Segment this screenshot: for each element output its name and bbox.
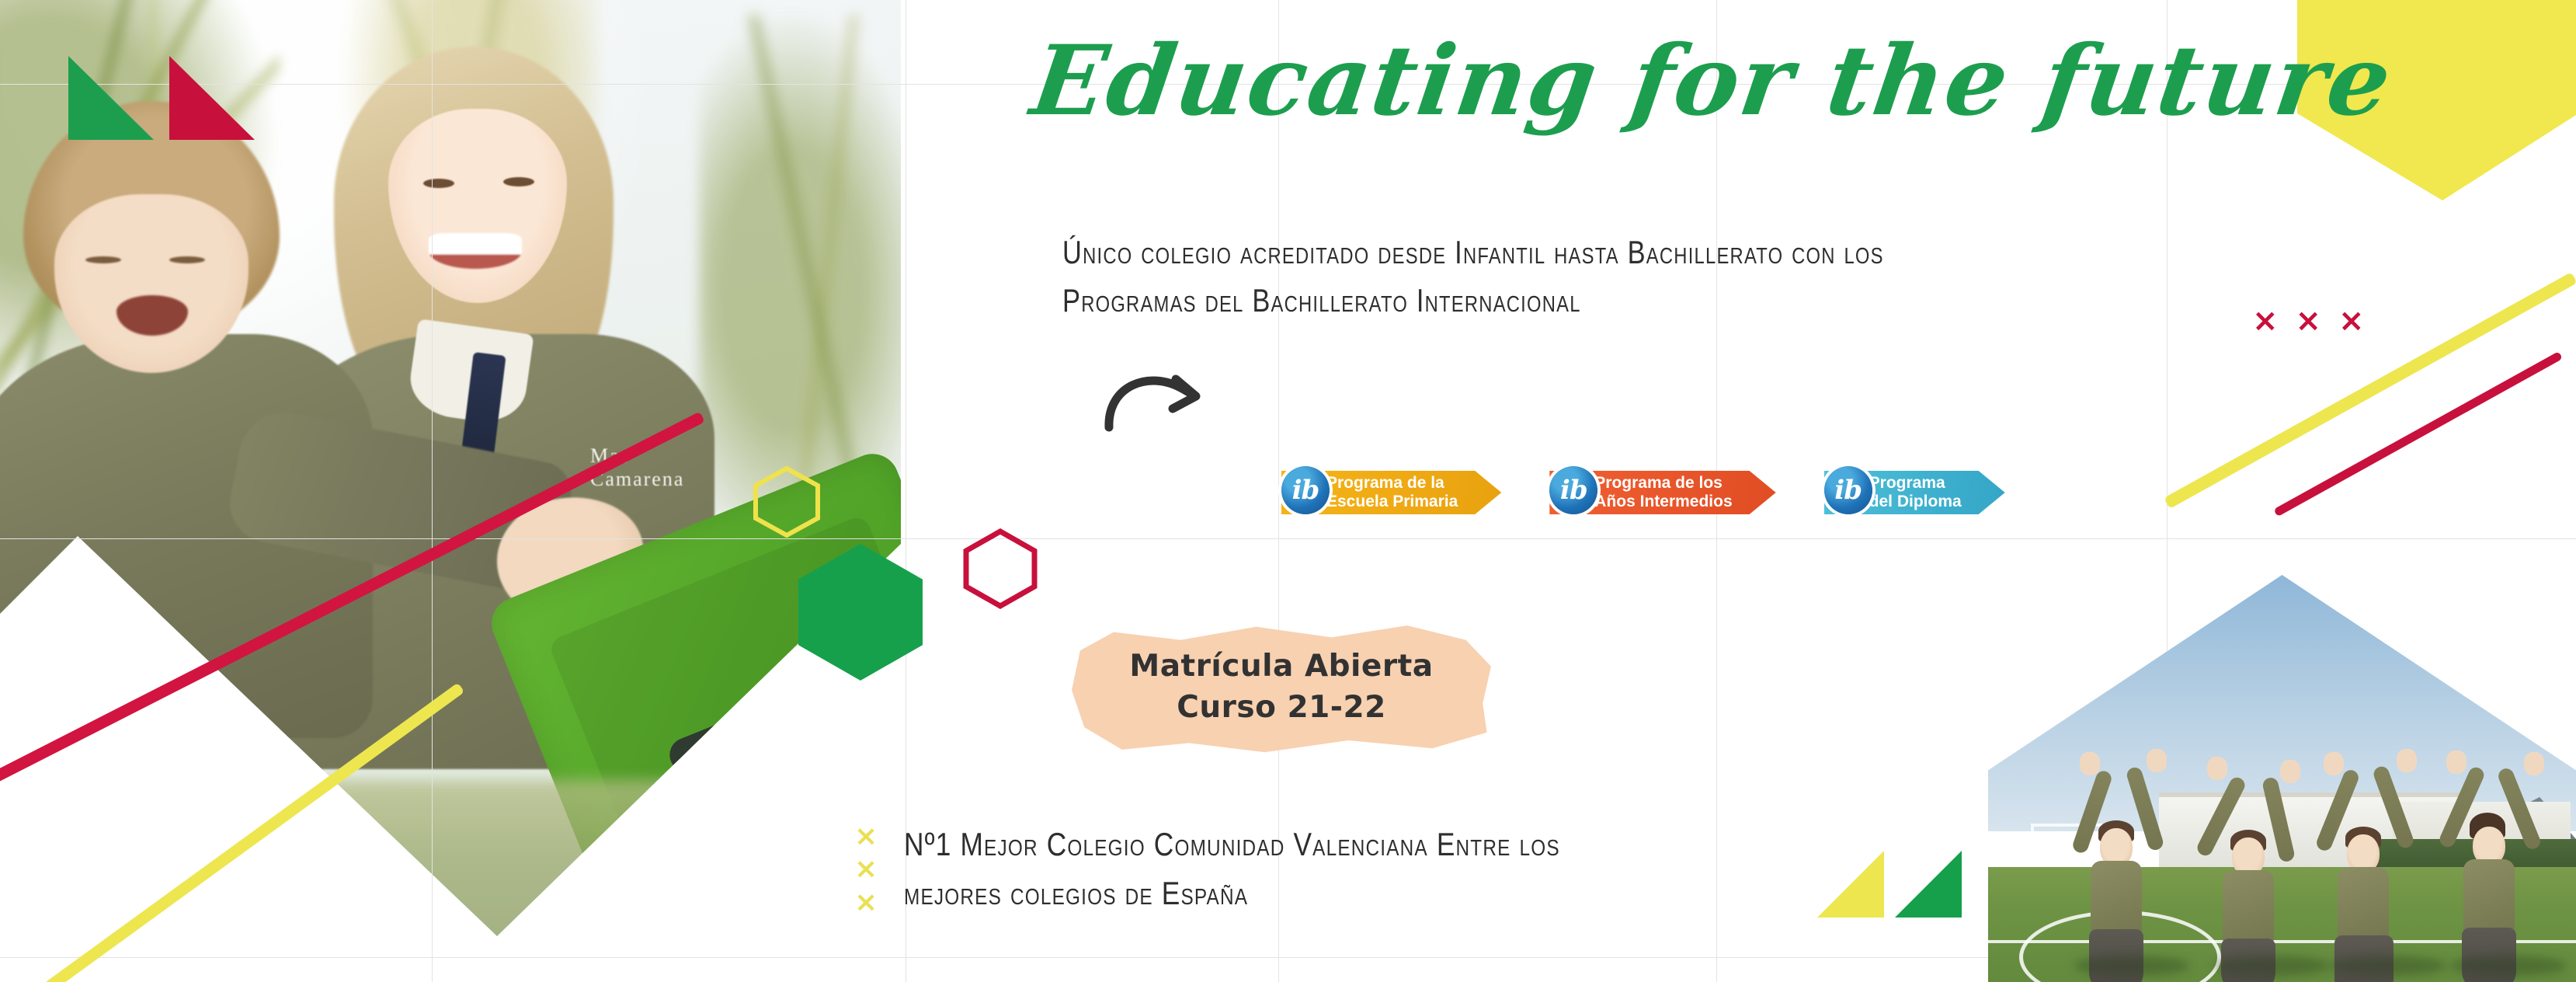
badge-diploma-programme[interactable]: ib Programa del Diploma: [1824, 465, 2005, 521]
ib-logo-icon: ib: [1281, 466, 1330, 514]
x-mark-icon: ×: [854, 890, 878, 915]
badge-line-1: Programa: [1869, 474, 1962, 493]
yellow-x-marks: × × ×: [854, 820, 878, 915]
green-triangle-icon: [1895, 851, 1962, 918]
badge-line-1: Programa de la: [1326, 474, 1458, 493]
x-mark-icon: ×: [2252, 303, 2279, 339]
x-mark-icon: ×: [2338, 303, 2365, 339]
yellow-diagonal-stripe: [2164, 272, 2576, 509]
badge-line-2: Escuela Primaria: [1326, 493, 1458, 511]
subtitle-line-1: Único colegio acreditado desde Infantil …: [1062, 228, 1884, 277]
subtitle: Único colegio acreditado desde Infantil …: [1062, 228, 1884, 325]
x-mark-icon: ×: [854, 857, 878, 882]
enrollment-line-1: Matrícula Abierta: [1129, 648, 1433, 686]
ib-logo-icon: ib: [1824, 466, 1872, 514]
award-statement: × × × Nº1 Mejor Colegio Comunidad Valenc…: [854, 820, 1685, 918]
badge-middle-years-programme[interactable]: ib Programa de los Años Intermedios: [1549, 465, 1775, 521]
girl-eye: [503, 177, 534, 186]
badge-line-2: del Diploma: [1869, 493, 1962, 511]
green-triangle-icon: [68, 56, 154, 140]
crimson-diagonal-stripe: [2273, 351, 2563, 517]
badge-primary-years-programme[interactable]: ib Programa de la Escuela Primaria: [1281, 465, 1501, 521]
shadow: [2213, 956, 2330, 976]
crimson-hexagon-icon: [963, 528, 1038, 609]
photo-ground: [0, 780, 901, 982]
yellow-hexagon-icon: [753, 466, 820, 538]
badge-line-2: Años Intermedios: [1594, 493, 1732, 511]
ib-logo-icon: ib: [1549, 466, 1597, 514]
page-title: Educating for the future: [1026, 30, 2399, 134]
jumping-students-photo: [1988, 575, 2576, 982]
shadow: [2074, 956, 2190, 976]
shadow: [2450, 956, 2567, 976]
ib-programme-badges: ib Programa de la Escuela Primaria ib Pr…: [1281, 465, 2005, 521]
subtitle-line-2: Programas del Bachillerato Internacional: [1062, 277, 1884, 325]
x-mark-icon: ×: [2296, 303, 2322, 339]
red-x-marks: × × ×: [2252, 303, 2365, 339]
award-line-1: Nº1 Mejor Colegio Comunidad Valenciana E…: [904, 820, 1560, 869]
x-mark-icon: ×: [854, 824, 878, 849]
girl-smile: [429, 233, 522, 269]
yellow-triangle-icon: [1817, 851, 1884, 918]
enrollment-line-2: Curso 21-22: [1177, 689, 1385, 727]
palm-foliage: [699, 16, 901, 513]
shadow: [2330, 956, 2446, 976]
award-line-2: mejores colegios de España: [904, 869, 1560, 918]
girl-eye: [423, 179, 454, 188]
enrollment-text: Matrícula Abierta Curso 21-22: [1072, 622, 1491, 754]
promo-banner: Mas Camarena: [0, 0, 2576, 982]
enrollment-callout: Matrícula Abierta Curso 21-22: [1072, 622, 1491, 754]
crimson-triangle-icon: [169, 56, 255, 140]
boy-eye: [169, 256, 205, 263]
curved-arrow-icon: [1101, 359, 1218, 434]
boy-eye: [85, 256, 121, 263]
badge-line-1: Programa de los: [1594, 474, 1732, 493]
award-text: Nº1 Mejor Colegio Comunidad Valenciana E…: [904, 820, 1560, 918]
